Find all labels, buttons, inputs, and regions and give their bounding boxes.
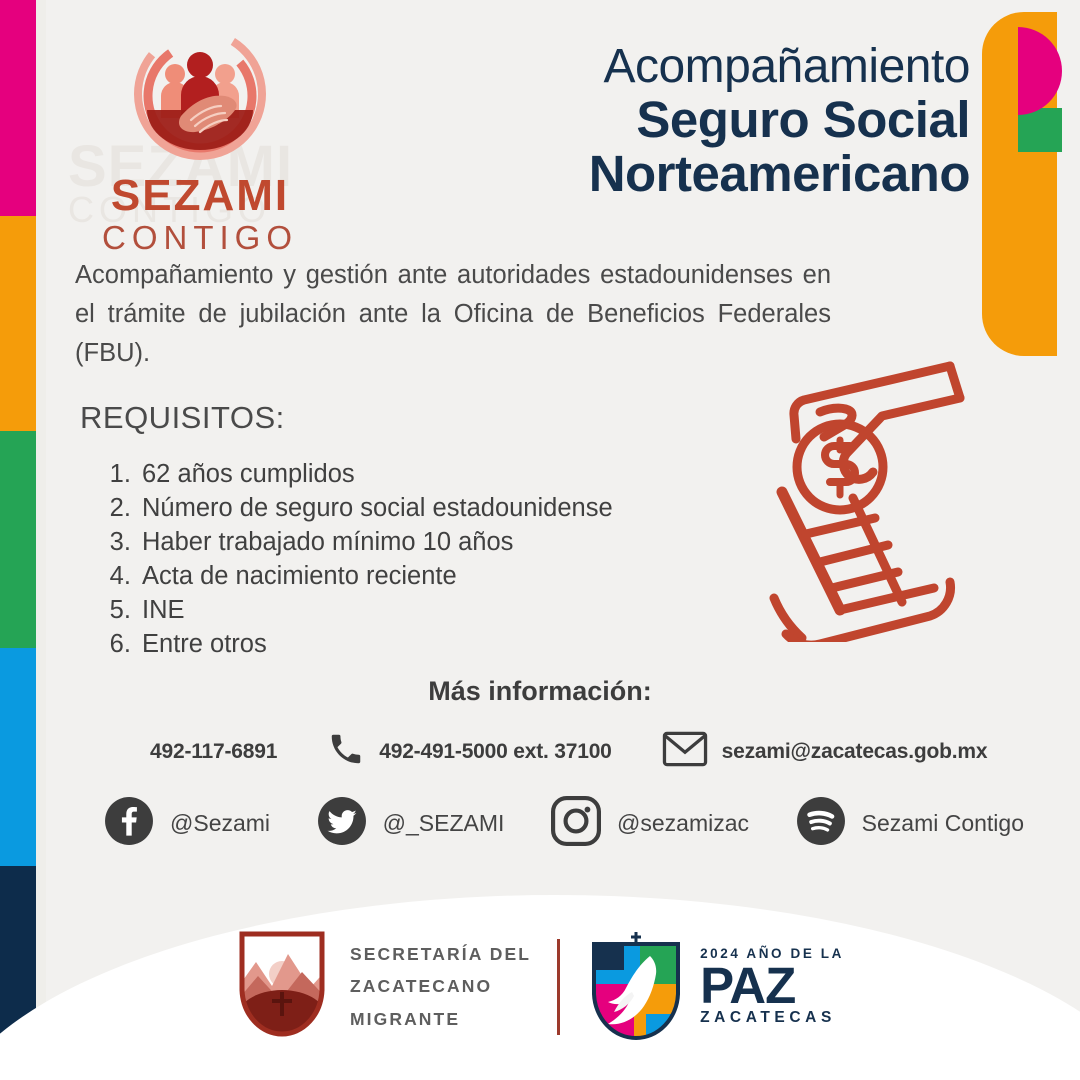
list-item: Entre otros <box>138 628 613 662</box>
contact-phone-ext[interactable]: 492-491-5000 ext. 37100 <box>327 730 611 773</box>
facebook-icon <box>104 796 154 851</box>
intro-paragraph: Acompañamiento y gestión ante autoridade… <box>75 256 831 372</box>
phone-icon <box>327 730 365 773</box>
footer-divider <box>557 939 560 1035</box>
headline-line-1: Acompañamiento <box>589 42 970 93</box>
paz-logo-block: 2024 AÑO DE LA PAZ ZACATECAS <box>586 928 844 1045</box>
stripe-magenta <box>0 0 36 216</box>
spotify-icon <box>796 796 846 851</box>
poster-canvas: SEZAMI CONTIGO <box>0 0 1080 1080</box>
stripe-orange <box>0 216 36 431</box>
secretaria-line-2: ZACATECANO <box>350 970 531 1002</box>
contact-phone-plain[interactable]: 492-117-6891 <box>150 740 277 764</box>
facebook-handle: @Sezami <box>170 810 270 837</box>
footer: SECRETARÍA DEL ZACATECANO MIGRANTE <box>0 928 1080 1045</box>
social-spotify[interactable]: Sezami Contigo <box>796 796 1024 851</box>
secretaria-line-1: SECRETARÍA DEL <box>350 938 531 970</box>
contact-email[interactable]: sezami@zacatecas.gob.mx <box>662 730 988 773</box>
phone-ext-text: 492-491-5000 ext. 37100 <box>379 740 611 764</box>
sezami-hands-people-logo-icon <box>125 22 275 172</box>
list-item: Número de seguro social estadounidense <box>138 492 613 526</box>
logo-wordmark: SEZAMI <box>60 174 340 218</box>
twitter-handle: @_SEZAMI <box>383 810 505 837</box>
instagram-handle: @sezamizac <box>617 810 749 837</box>
secretaria-text: SECRETARÍA DEL ZACATECANO MIGRANTE <box>350 938 531 1035</box>
requirements-list: 62 años cumplidos Número de seguro socia… <box>92 458 613 661</box>
spotify-handle: Sezami Contigo <box>862 810 1024 837</box>
social-facebook[interactable]: @Sezami <box>104 796 270 851</box>
instagram-icon <box>551 796 601 851</box>
hand-dropping-coin-into-rocking-chair-icon <box>722 352 992 647</box>
sezami-logo: SEZAMI CONTIGO <box>60 22 340 256</box>
social-links-row: @Sezami @_SEZAMI @sezamizac <box>104 796 1024 851</box>
logo-subtitle: CONTIGO <box>60 220 340 256</box>
contact-row: 492-117-6891 492-491-5000 ext. 37100 sez… <box>150 730 1030 773</box>
stripe-gutter <box>36 0 46 1080</box>
list-item: Haber trabajado mínimo 10 años <box>138 526 613 560</box>
social-twitter[interactable]: @_SEZAMI <box>317 796 505 851</box>
social-instagram[interactable]: @sezamizac <box>551 796 749 851</box>
twitter-icon <box>317 796 367 851</box>
requirements-heading: REQUISITOS: <box>80 400 285 436</box>
paz-dove-shield-logo-icon <box>586 928 686 1045</box>
secretaria-line-3: MIGRANTE <box>350 1003 531 1035</box>
envelope-icon <box>662 730 708 773</box>
page-title: Acompañamiento Seguro Social Norteameric… <box>589 42 970 201</box>
phone-plain-text: 492-117-6891 <box>150 740 277 764</box>
more-info-heading: Más información: <box>0 676 1080 707</box>
stripe-green <box>0 431 36 648</box>
email-text: sezami@zacatecas.gob.mx <box>722 740 988 764</box>
list-item: Acta de nacimiento reciente <box>138 560 613 594</box>
secretaria-logo-block: SECRETARÍA DEL ZACATECANO MIGRANTE <box>236 928 531 1045</box>
headline-line-3: Norteamericano <box>589 147 970 201</box>
zacatecas-migrant-shield-crest-icon <box>236 928 328 1045</box>
deco-green-shape <box>1018 108 1062 152</box>
list-item: INE <box>138 594 613 628</box>
paz-text-block: 2024 AÑO DE LA PAZ ZACATECAS <box>700 947 844 1026</box>
headline-line-2: Seguro Social <box>589 93 970 147</box>
paz-word: PAZ <box>700 964 844 1009</box>
list-item: 62 años cumplidos <box>138 458 613 492</box>
paz-state: ZACATECAS <box>700 1010 844 1026</box>
